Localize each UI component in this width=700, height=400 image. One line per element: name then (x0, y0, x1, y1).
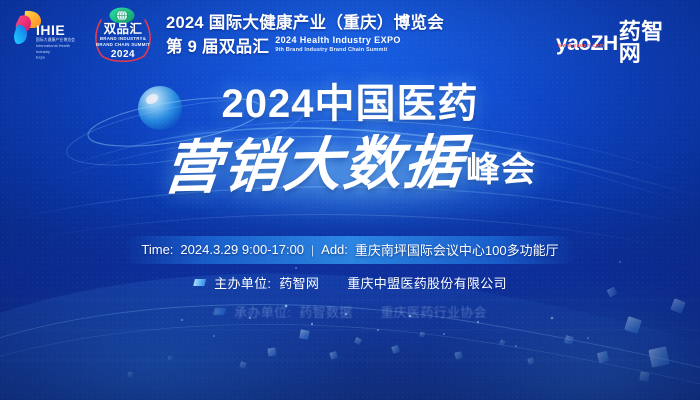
expo-title-line2: 第 9 届双品汇 (166, 39, 269, 56)
info-separator: | (311, 243, 314, 257)
time-label: Time: (141, 242, 173, 257)
address-label: Add: (321, 242, 348, 257)
summit-chinese-name: 双品汇 (104, 23, 143, 36)
bullet-tag-icon (193, 279, 206, 286)
address-value: 重庆南坪国际会议中心100多功能厅 (355, 240, 559, 259)
title-calligraphy: 营销大数据 (161, 133, 468, 197)
time-value: 2024.3.29 9:00-17:00 (180, 242, 304, 257)
co-organizer-value-b: 重庆医药行业协会 (380, 302, 486, 321)
expo-title-english: 2024 Health Industry EXPO 9th Brand Indu… (275, 36, 401, 55)
expo-title-line1: 2024 国际大健康产业（重庆）博览会 (166, 15, 444, 32)
co-organizer-value-a: 药智数据 (299, 302, 352, 321)
ihie-logo: IHIE 国际大健康产业博览会 International Health Ind… (14, 7, 80, 63)
ihie-acronym: IHIE (36, 23, 65, 37)
expo-title-line2-row: 第 9 届双品汇 2024 Health Industry EXPO 9th B… (166, 36, 444, 55)
organizer-value-b: 重庆中盟医药股份有限公司 (347, 273, 507, 292)
co-organizer-label: 承办单位: (234, 302, 291, 321)
ihie-chinese-name: 国际大健康产业博览会 (36, 38, 75, 43)
summit-en-line2: BRAND CHAIN SUMMIT (96, 43, 150, 47)
ihie-en-line3: Expo (36, 55, 70, 61)
event-info-bar: Time: 2024.3.29 9:00-17:00 | Add: 重庆南坪国际… (123, 236, 576, 264)
summit-logo: 双品汇 BRAND INDUSTRY& BRAND CHAIN SUMMIT 2… (92, 6, 154, 64)
title-line-2: 营销大数据峰会 (0, 136, 700, 194)
summit-en-line1: BRAND INDUSTRY& (100, 37, 146, 41)
organizer-label: 主办单位: (214, 273, 271, 292)
yaozh-chinese: 药智网 (619, 21, 686, 65)
title-suffix: 峰会 (466, 153, 536, 187)
organizer-line-primary: 主办单位: 药智网 重庆中盟医药股份有限公司 (193, 273, 507, 292)
poster-title: 2024中国医药 营销大数据峰会 (0, 84, 700, 124)
summit-year: 2024 (111, 50, 135, 60)
expo-en-line1: 2024 Health Industry EXPO (275, 36, 401, 46)
poster-header: IHIE 国际大健康产业博览会 International Health Ind… (0, 0, 700, 70)
expo-en-line2: 9th Brand Industry Brand Chain Summit (275, 47, 401, 54)
event-poster: IHIE 国际大健康产业博览会 International Health Ind… (0, 0, 700, 400)
organizer-line-secondary: 承办单位: 药智数据 重庆医药行业协会 (213, 302, 487, 321)
title-line-1: 2024中国医药 (222, 84, 479, 124)
yaozh-url: www.yaozh.com (558, 43, 605, 49)
ihie-english-name: International Health Industry Expo (36, 43, 70, 61)
expo-title-block: 2024 国际大健康产业（重庆）博览会 第 9 届双品汇 2024 Health… (166, 15, 444, 55)
bullet-tag-icon-secondary (213, 308, 226, 315)
yaozh-logo[interactable]: yaoZH 药智网 www.yaozh.com (556, 15, 686, 55)
organizer-value-a: 药智网 (279, 273, 319, 292)
